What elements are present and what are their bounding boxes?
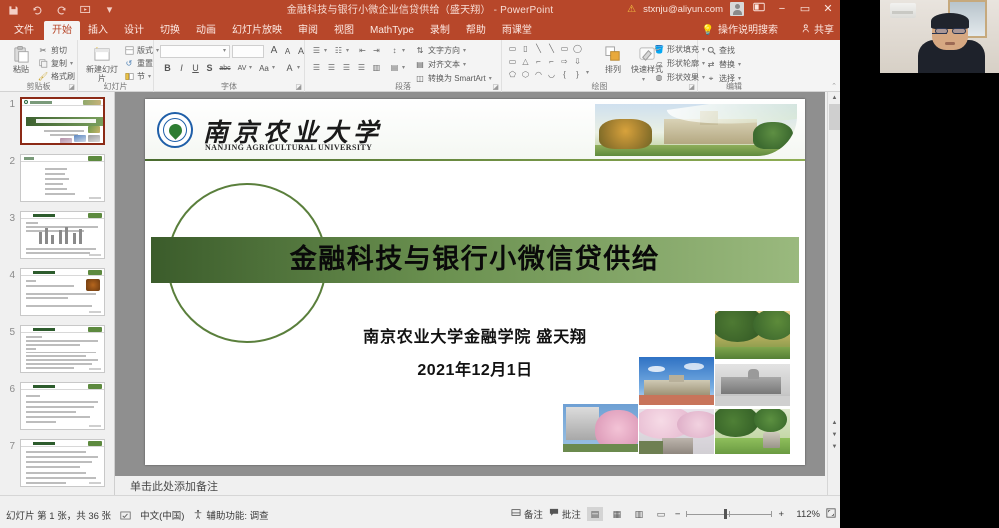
font-size-input[interactable]: [232, 45, 264, 58]
numbering-button[interactable]: ☷: [333, 45, 344, 55]
notes-button[interactable]: 备注: [511, 507, 543, 521]
tab-slideshow[interactable]: 幻灯片放映: [224, 21, 290, 40]
notes-pane[interactable]: 单击此处添加备注: [115, 476, 825, 495]
thumbnail-slide-7[interactable]: 7: [0, 439, 115, 489]
ribbon-group-paragraph: ☰ ▾ ☷ ▾ ⇤ ⇥ ↕ ▾ ☰ ☰ ☰ ☰ ▥ ▤ ▾ ⇅ 文字方向 ▾: [305, 40, 502, 92]
thumbnail-preview[interactable]: [20, 325, 105, 373]
ribbon-group-editing: 查找 ⇄ 替换 ▾ ⌖ 选择 ▾ 编辑: [698, 40, 770, 92]
campus-banner-image: [595, 104, 797, 156]
slide-header: 南京农业大学 NANJING AGRICULTURAL UNIVERSITY: [145, 99, 805, 161]
tab-help[interactable]: 帮助: [458, 21, 494, 40]
reset-label: 重置: [137, 58, 153, 69]
align-left-button[interactable]: ☰: [311, 62, 322, 72]
replace-label: 替换: [719, 59, 735, 70]
campus-photo-main-building[interactable]: [639, 357, 714, 405]
numbering-dropdown-icon[interactable]: ▾: [346, 47, 349, 54]
slide-title: 金融科技与银行小微信贷供给: [151, 237, 799, 283]
thumbnail-number: 1: [3, 99, 15, 110]
font-name-dropdown-icon[interactable]: ▾: [223, 47, 226, 54]
justify-button[interactable]: ☰: [356, 62, 367, 72]
notes-icon: [511, 508, 521, 520]
copy-label: 复制: [51, 58, 67, 69]
font-color-dropdown-icon[interactable]: ▾: [297, 64, 300, 71]
arrange-button[interactable]: 排列: [596, 44, 630, 74]
layout-label: 版式: [137, 45, 153, 56]
minimize-button[interactable]: −: [774, 2, 790, 16]
zoom-in-button[interactable]: +: [778, 509, 784, 520]
tell-me-label: 操作说明搜索: [718, 21, 778, 40]
campus-photo-trees-sunset[interactable]: [715, 311, 790, 359]
share-button[interactable]: 共享: [802, 21, 834, 40]
layout-icon: [124, 46, 134, 56]
campus-photo-cherry-blossom-building[interactable]: [563, 404, 638, 452]
webcam-video-feed[interactable]: [880, 0, 999, 73]
ribbon-display-options-icon[interactable]: [751, 2, 767, 16]
reading-view-button[interactable]: ▥: [631, 507, 647, 521]
status-right: 备注 批注 ▤ ▦ ▥ ▭ −: [511, 507, 836, 521]
align-text-button[interactable]: ▤ 对齐文本 ▾: [415, 59, 466, 70]
bold-button[interactable]: B: [162, 62, 173, 74]
bullets-dropdown-icon[interactable]: ▾: [324, 47, 327, 54]
copy-dropdown-icon[interactable]: ▾: [70, 60, 73, 67]
tab-animations[interactable]: 动画: [188, 21, 224, 40]
screen: ▾ 金融科技与银行小微企业信贷供给（盛天翔） - PowerPoint ⚠ st…: [0, 0, 999, 528]
ribbon-group-drawing: ▭ ▯ ╲ ╲ ▭ ◯ ▭ △ ⌐ ⌐ ⇨ ⇩ ⬠ ⬡ ◠ ◡ {: [502, 40, 698, 92]
person-hair: [931, 13, 969, 29]
spellcheck-icon[interactable]: [120, 511, 131, 520]
font-color-button[interactable]: A: [284, 62, 295, 74]
thumbnail-slide-4[interactable]: 4: [0, 268, 115, 318]
tab-design[interactable]: 设计: [116, 21, 152, 40]
slide-presenter: 南京农业大学金融学院 盛天翔: [145, 323, 805, 347]
increase-indent-button[interactable]: ⇥: [371, 45, 382, 55]
shape-outline-icon: ▱: [654, 59, 664, 69]
font-name-input[interactable]: [160, 45, 230, 58]
vertical-scrollbar[interactable]: ▲ ▲ ▼ ▼: [827, 92, 840, 495]
change-case-dropdown-icon[interactable]: ▾: [272, 64, 275, 71]
thumbnail-number: 6: [3, 384, 15, 395]
find-label: 查找: [719, 45, 735, 56]
ribbon: 粘贴 ✂ 剪切 复制 ▾ 🖌 格式刷 剪贴板 ◪: [0, 40, 840, 92]
new-slide-icon: [91, 44, 113, 65]
comments-button[interactable]: 批注: [549, 507, 581, 521]
text-direction-icon: ⇅: [415, 46, 425, 56]
bullets-button[interactable]: ☰: [311, 45, 322, 55]
thumbnail-preview[interactable]: [20, 382, 105, 430]
align-center-button[interactable]: ☰: [326, 62, 337, 72]
find-button[interactable]: 查找: [706, 45, 735, 56]
ribbon-group-slides: 新建幻灯片 版式 ▾ ↺ 重置 节: [78, 40, 154, 92]
thumbnail-preview[interactable]: [20, 97, 105, 145]
account-email[interactable]: stxnju@aliyun.com: [643, 4, 723, 15]
copy-icon: [38, 59, 48, 69]
drawing-dialog-launcher[interactable]: ◪: [688, 83, 695, 91]
cut-label: 剪切: [51, 45, 67, 56]
align-text-icon: ▤: [415, 60, 425, 70]
slide-thumbnail-pane[interactable]: 1 2: [0, 92, 115, 495]
current-slide[interactable]: 南京农业大学 NANJING AGRICULTURAL UNIVERSITY 金…: [145, 99, 805, 465]
section-dropdown-icon[interactable]: ▾: [148, 73, 151, 80]
tab-rain-classroom[interactable]: 雨课堂: [494, 21, 540, 40]
line-spacing-dropdown-icon[interactable]: ▾: [402, 47, 405, 54]
tab-review[interactable]: 审阅: [290, 21, 326, 40]
thumbnail-preview[interactable]: [20, 154, 105, 202]
thumbnail-slide-5[interactable]: 5: [0, 325, 115, 375]
paragraph-dialog-launcher[interactable]: ◪: [492, 83, 499, 91]
thumbnail-number: 5: [3, 327, 15, 338]
align-text-dropdown-icon[interactable]: ▾: [463, 61, 466, 68]
ribbon-tab-bar: 文件 开始 插入 设计 切换 动画 幻灯片放映 审阅 视图 MathType 录…: [0, 21, 840, 40]
thumbnail-slide-2[interactable]: 2: [0, 154, 115, 204]
text-direction-dropdown-icon[interactable]: ▾: [463, 47, 466, 54]
accessibility-icon: [193, 509, 203, 522]
grow-font-button[interactable]: A: [268, 45, 280, 57]
align-right-button[interactable]: ☰: [341, 62, 352, 72]
zoom-slider-handle[interactable]: [724, 509, 727, 519]
new-slide-button[interactable]: 新建幻灯片: [83, 44, 121, 83]
paste-label: 粘贴: [13, 65, 29, 74]
decrease-indent-button[interactable]: ⇤: [357, 45, 368, 55]
text-direction-label: 文字方向: [428, 45, 460, 56]
slide-counter[interactable]: 幻灯片 第 1 张，共 36 张: [6, 508, 111, 522]
zoom-slider[interactable]: [686, 508, 772, 520]
close-button[interactable]: ✕: [820, 2, 836, 16]
previous-slide-icon[interactable]: ▲: [828, 417, 840, 429]
reset-button[interactable]: ↺ 重置: [124, 58, 153, 69]
thumbnail-slide-1[interactable]: 1: [0, 97, 115, 147]
collapse-ribbon-icon[interactable]: ⌃: [831, 82, 837, 90]
share-label: 共享: [814, 21, 834, 40]
group-label-editing: 编辑: [698, 81, 770, 92]
char-spacing-dropdown-icon[interactable]: ▾: [249, 64, 252, 71]
align-text-label: 对齐文本: [428, 59, 460, 70]
thumbnail-preview[interactable]: [20, 439, 105, 487]
tab-transitions[interactable]: 切换: [152, 21, 188, 40]
thumbnail-preview[interactable]: [20, 268, 105, 316]
tab-recording[interactable]: 录制: [422, 21, 458, 40]
comments-label: 批注: [562, 507, 581, 521]
text-shadow-button[interactable]: S: [204, 62, 215, 74]
tab-view[interactable]: 视图: [326, 21, 362, 40]
thumbnail-number: 2: [3, 156, 15, 167]
share-person-icon: [802, 21, 811, 40]
title-band[interactable]: 金融科技与银行小微信贷供给: [151, 237, 799, 283]
tab-home[interactable]: 开始: [44, 21, 80, 40]
campus-photo-historic-bw[interactable]: [715, 364, 790, 406]
change-case-button[interactable]: Aa: [257, 63, 271, 75]
tab-mathtype[interactable]: MathType: [362, 21, 422, 40]
thumbnail-number: 7: [3, 441, 15, 452]
status-bar: 幻灯片 第 1 张，共 36 张 中文(中国) 辅助功能: 调查: [0, 495, 840, 528]
title-bar: ▾ 金融科技与银行小微企业信贷供给（盛天翔） - PowerPoint ⚠ st…: [0, 0, 840, 21]
scroll-down-icon[interactable]: ▼: [828, 441, 840, 453]
clipboard-dialog-launcher[interactable]: ◪: [68, 83, 75, 91]
slide-sorter-view-button[interactable]: ▦: [609, 507, 625, 521]
university-logo-icon: [157, 112, 193, 148]
group-label-font: 字体: [154, 81, 304, 92]
campus-photo-lawn-stone[interactable]: [715, 409, 790, 454]
zoom-out-button[interactable]: −: [675, 509, 681, 520]
overlay-background: [880, 73, 999, 528]
columns-button[interactable]: ▥: [371, 62, 382, 72]
shape-fill-label: 形状填充: [667, 44, 699, 55]
reset-icon: ↺: [124, 59, 134, 69]
restore-button[interactable]: ▭: [797, 2, 813, 16]
shape-outline-label: 形状轮廓: [667, 58, 699, 69]
warning-triangle-icon: ⚠: [627, 4, 636, 15]
search-icon: [706, 46, 716, 56]
group-label-paragraph: 段落: [305, 81, 501, 92]
slideshow-view-button[interactable]: ▭: [653, 507, 669, 521]
notes-placeholder[interactable]: 单击此处添加备注: [130, 478, 218, 494]
paste-button[interactable]: 粘贴: [4, 44, 38, 74]
slide-edit-area[interactable]: 南京农业大学 NANJING AGRICULTURAL UNIVERSITY 金…: [115, 92, 825, 495]
normal-view-button[interactable]: ▤: [587, 507, 603, 521]
arrange-icon: [602, 44, 624, 65]
title-bar-right: ⚠ stxnju@aliyun.com − ▭ ✕: [627, 2, 836, 16]
italic-button[interactable]: I: [176, 62, 187, 74]
group-label-clipboard: 剪贴板: [0, 81, 77, 92]
thumbnail-number: 3: [3, 213, 15, 224]
university-name-en: NANJING AGRICULTURAL UNIVERSITY: [205, 143, 372, 152]
zoom-level[interactable]: 112%: [790, 509, 820, 520]
scissors-icon: ✂: [38, 46, 48, 56]
strikethrough-button[interactable]: abc: [217, 63, 233, 75]
tab-file[interactable]: 文件: [4, 21, 44, 40]
tab-insert[interactable]: 插入: [80, 21, 116, 40]
ribbon-group-clipboard: 粘贴 ✂ 剪切 复制 ▾ 🖌 格式刷 剪贴板 ◪: [0, 40, 78, 92]
replace-dropdown-icon[interactable]: ▾: [738, 61, 741, 68]
language-indicator[interactable]: 中文(中国): [140, 508, 184, 522]
paste-icon: [10, 44, 32, 65]
section-icon: [124, 72, 134, 82]
comment-bubble-icon: [549, 508, 559, 520]
font-dialog-launcher[interactable]: ◪: [295, 83, 302, 91]
paintbrush-icon: 🖌: [38, 72, 48, 82]
group-label-slides: 幻灯片: [78, 81, 153, 92]
ribbon-tabs: 文件 开始 插入 设计 切换 动画 幻灯片放映 审阅 视图 MathType 录…: [4, 21, 540, 40]
accessibility-status[interactable]: 辅助功能: 调查: [193, 508, 268, 522]
avatar[interactable]: [730, 2, 744, 16]
thumbnail-slide-3[interactable]: 3: [0, 211, 115, 261]
shapes-more-icon[interactable]: ▾: [586, 69, 589, 76]
arrange-label: 排列: [605, 65, 621, 74]
thumbnail-number: 4: [3, 270, 15, 281]
scroll-up-icon[interactable]: ▲: [828, 92, 840, 104]
replace-button[interactable]: ⇄ 替换 ▾: [706, 59, 741, 70]
text-columns-dropdown-icon[interactable]: ▾: [402, 64, 405, 71]
underline-button[interactable]: U: [190, 62, 201, 74]
air-conditioner: [890, 3, 916, 18]
text-direction-button[interactable]: ⇅ 文字方向 ▾: [415, 45, 466, 56]
lightbulb-icon: 💡: [702, 21, 714, 40]
slide-nav-buttons[interactable]: ▲ ▼ ▼: [828, 417, 840, 453]
thumbnail-preview[interactable]: [20, 211, 105, 259]
fit-to-window-icon[interactable]: [826, 508, 836, 521]
line-spacing-button[interactable]: ↕: [389, 45, 400, 55]
shrink-font-button[interactable]: A: [282, 46, 293, 58]
group-label-drawing: 绘图: [502, 81, 697, 92]
replace-icon: ⇄: [706, 60, 716, 70]
status-left: 幻灯片 第 1 张，共 36 张 中文(中国) 辅助功能: 调查: [6, 508, 269, 522]
copy-button[interactable]: 复制 ▾: [38, 58, 73, 69]
thumbnail-slide-6[interactable]: 6: [0, 382, 115, 432]
header-divider: [145, 159, 805, 161]
campus-photo-cherry-blossom-path[interactable]: [639, 409, 714, 454]
cut-button[interactable]: ✂ 剪切: [38, 45, 67, 56]
scrollbar-thumb[interactable]: [829, 104, 840, 130]
text-columns-button[interactable]: ▤: [389, 62, 400, 72]
ribbon-group-font: ▾ A A A B I U S abc AV ▾ Aa ▾ A ▾ 字体 ◪: [154, 40, 305, 92]
shape-fill-icon: 🪣: [654, 45, 664, 55]
next-slide-icon[interactable]: ▼: [828, 429, 840, 441]
notes-label: 备注: [524, 507, 543, 521]
tell-me-search[interactable]: 💡 操作说明搜索: [702, 21, 778, 40]
powerpoint-window: ▾ 金融科技与银行小微企业信贷供给（盛天翔） - PowerPoint ⚠ st…: [0, 0, 840, 528]
character-spacing-button[interactable]: AV: [235, 63, 249, 75]
accessibility-label: 辅助功能: 调查: [206, 508, 268, 522]
